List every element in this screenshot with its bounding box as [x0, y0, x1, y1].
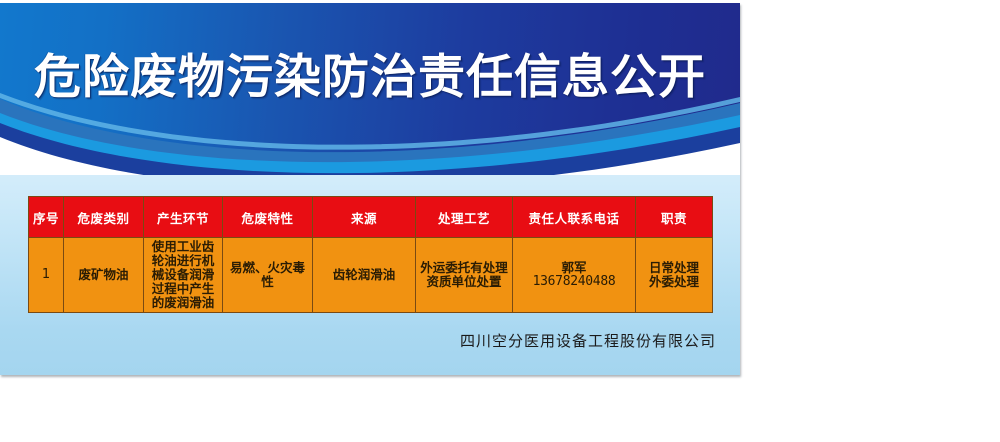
- table-row: 1 废矿物油 使用工业齿轮油进行机械设备润滑过程中产生的废润滑油 易燃、火灾毒性…: [29, 238, 713, 313]
- cell-characteristics: 易燃、火灾毒性: [223, 238, 313, 313]
- page-title: 危险废物污染防治责任信息公开: [0, 49, 740, 107]
- column-header-source: 来源: [313, 197, 416, 238]
- column-header-contact: 责任人联系电话: [513, 197, 636, 238]
- poster-banner: 危险废物污染防治责任信息公开: [0, 3, 740, 175]
- cell-stage: 使用工业齿轮油进行机械设备润滑过程中产生的废润滑油: [144, 238, 223, 313]
- column-header-process: 处理工艺: [416, 197, 513, 238]
- column-header-characteristics: 危废特性: [223, 197, 313, 238]
- contact-person-name: 郭军: [515, 261, 633, 275]
- column-header-index: 序号: [29, 197, 64, 238]
- duty-line-2: 外委处理: [638, 275, 710, 289]
- duty-line-1: 日常处理: [638, 261, 710, 275]
- column-header-duty: 职责: [636, 197, 713, 238]
- cell-category: 废矿物油: [64, 238, 144, 313]
- cell-process: 外运委托有处理资质单位处置: [416, 238, 513, 313]
- cell-source: 齿轮润滑油: [313, 238, 416, 313]
- cell-duty: 日常处理 外委处理: [636, 238, 713, 313]
- company-name: 四川空分医用设备工程股份有限公司: [0, 331, 716, 351]
- information-disclosure-poster: 危险废物污染防治责任信息公开 序号 危废类别 产生环节 危废特性 来源 处理工艺…: [0, 3, 740, 375]
- table-header-row: 序号 危废类别 产生环节 危废特性 来源 处理工艺 责任人联系电话 职责: [29, 197, 713, 238]
- hazardous-waste-table: 序号 危废类别 产生环节 危废特性 来源 处理工艺 责任人联系电话 职责 1 废…: [28, 196, 713, 313]
- cell-contact: 郭军 13678240488: [513, 238, 636, 313]
- contact-phone-number: 13678240488: [515, 275, 633, 289]
- column-header-stage: 产生环节: [144, 197, 223, 238]
- column-header-category: 危废类别: [64, 197, 144, 238]
- cell-index: 1: [29, 238, 64, 313]
